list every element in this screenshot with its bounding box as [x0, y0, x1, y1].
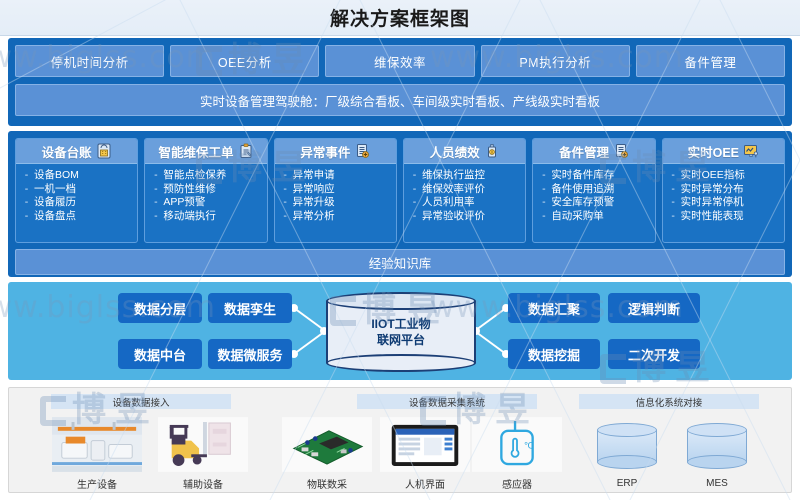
- list-item: -设备盘点: [22, 210, 133, 224]
- item-label: 实时异常分布: [681, 183, 744, 197]
- source-auxiliary-equipment[interactable]: 辅助设备: [157, 416, 249, 491]
- circuit-board-icon: [281, 416, 373, 472]
- source-caption: ERP: [581, 478, 673, 489]
- analytics-tab-row: 停机时间分析 OEE分析 维保效率 PM执行分析 备件管理: [15, 45, 785, 77]
- factory-photo-icon: [51, 416, 143, 472]
- bullet-dash: -: [281, 183, 290, 197]
- card-header: 实时OEE: [663, 139, 784, 164]
- bullet-dash: -: [281, 196, 290, 210]
- card-item-list: -智能点检保养 -预防性维修 -APP预警 -移动端执行: [145, 164, 266, 226]
- bullet-dash: -: [669, 169, 678, 183]
- bullet-dash: -: [410, 196, 419, 210]
- cylinder-shape: [687, 423, 747, 469]
- source-caption: 生产设备: [51, 476, 143, 491]
- bullet-dash: -: [281, 210, 290, 224]
- document-alert-icon: [354, 143, 370, 159]
- list-item: -自动采购单: [539, 210, 650, 224]
- source-sensor[interactable]: ℃ 感应器: [471, 416, 563, 491]
- pill-data-aggregation[interactable]: 数据汇聚: [508, 293, 600, 323]
- card-title: 设备台账: [42, 142, 92, 161]
- list-item: -异常升级: [281, 196, 392, 210]
- list-item: -安全库存预警: [539, 196, 650, 210]
- card-title: 实时OEE: [688, 142, 739, 161]
- list-item: -设备BOM: [22, 169, 133, 183]
- platform-line-2: 联网平台: [377, 332, 425, 348]
- list-item: -异常分析: [281, 210, 392, 224]
- list-item: -预防性维修: [151, 183, 262, 197]
- item-label: 自动采购单: [551, 210, 604, 224]
- group-title-acquisition-system: 设备数据采集系统: [357, 394, 537, 409]
- pill-secondary-development[interactable]: 二次开发: [608, 339, 700, 369]
- pill-data-layering[interactable]: 数据分层: [118, 293, 202, 323]
- cylinder-bottom: [687, 455, 747, 469]
- cabinet-icon: [96, 143, 112, 159]
- bullet-dash: -: [151, 183, 160, 197]
- card-item-list: -维保执行监控 -维保效率评价 -人员利用率 -异常验收评价: [404, 164, 525, 226]
- item-label: 移动端执行: [163, 210, 216, 224]
- card-title: 备件管理: [559, 142, 609, 161]
- tab-downtime-analysis[interactable]: 停机时间分析: [15, 45, 164, 77]
- item-label: 异常验收评价: [422, 210, 485, 224]
- bullet-dash: -: [22, 169, 31, 183]
- tab-maintenance-efficiency[interactable]: 维保效率: [325, 45, 474, 77]
- module-card-row: 设备台账 -设备BOM -一机一档 -设备履历 -设备盘点 智能维保工单: [15, 138, 785, 243]
- list-item: -备件使用追溯: [539, 183, 650, 197]
- tab-pm-execution-analysis[interactable]: PM执行分析: [481, 45, 630, 77]
- cylinder-shape: [597, 423, 657, 469]
- item-label: 实时性能表现: [681, 210, 744, 224]
- list-item: -人员利用率: [410, 196, 521, 210]
- iiot-platform-cylinder[interactable]: IIOT工业物 联网平台: [326, 292, 476, 372]
- source-caption: 人机界面: [379, 476, 471, 491]
- bullet-dash: -: [22, 196, 31, 210]
- bullet-dash: -: [669, 210, 678, 224]
- pill-data-midplatform[interactable]: 数据中台: [118, 339, 202, 369]
- list-item: -实时性能表现: [669, 210, 780, 224]
- list-item: -移动端执行: [151, 210, 262, 224]
- source-caption: 辅助设备: [157, 476, 249, 491]
- list-item: -异常响应: [281, 183, 392, 197]
- card-item-list: -异常申请 -异常响应 -异常升级 -异常分析: [275, 164, 396, 226]
- module-card-realtime-oee[interactable]: 实时OEE -实时OEE指标 -实时异常分布 -实时异常停机 -实时性能表现: [662, 138, 785, 243]
- module-card-equipment-ledger[interactable]: 设备台账 -设备BOM -一机一档 -设备履历 -设备盘点: [15, 138, 138, 243]
- card-header: 备件管理: [533, 139, 654, 164]
- cylinder-top: [597, 423, 657, 437]
- oil-can-icon: [484, 143, 500, 159]
- source-mes[interactable]: MES: [671, 418, 763, 489]
- database-cylinder-icon: [671, 418, 763, 474]
- card-title: 人员绩效: [430, 142, 480, 161]
- list-item: -实时异常分布: [669, 183, 780, 197]
- data-source-layer: 设备数据接入 设备数据采集系统 信息化系统对接 生产设: [8, 387, 792, 493]
- card-header: 设备台账: [16, 139, 137, 164]
- card-item-list: -实时备件库存 -备件使用追溯 -安全库存预警 -自动采购单: [533, 164, 654, 226]
- cockpit-banner[interactable]: 实时设备管理驾驶舱：厂级综合看板、车间级实时看板、产线级实时看板: [15, 84, 785, 116]
- module-card-abnormal-events[interactable]: 异常事件 -异常申请 -异常响应 -异常升级 -异常分析: [274, 138, 397, 243]
- bullet-dash: -: [151, 196, 160, 210]
- bullet-dash: -: [22, 183, 31, 197]
- bullet-dash: -: [410, 183, 419, 197]
- item-label: 实时异常停机: [681, 196, 744, 210]
- item-label: 维保效率评价: [422, 183, 485, 197]
- cylinder-top: [687, 423, 747, 437]
- list-item: -实时异常停机: [669, 196, 780, 210]
- data-platform-layer: 数据分层 数据孪生 数据中台 数据微服务 IIOT工业物 联网平台 数据汇聚 数…: [8, 282, 792, 380]
- item-label: 维保执行监控: [422, 169, 485, 183]
- bullet-dash: -: [410, 210, 419, 224]
- sensor-icon: ℃: [471, 416, 563, 472]
- source-production-equipment[interactable]: 生产设备: [51, 416, 143, 491]
- bullet-dash: -: [410, 169, 419, 183]
- analytics-layer: 停机时间分析 OEE分析 维保效率 PM执行分析 备件管理 实时设备管理驾驶舱：…: [8, 38, 792, 126]
- bullet-dash: -: [151, 169, 160, 183]
- item-label: 实时备件库存: [551, 169, 614, 183]
- source-erp[interactable]: ERP: [581, 418, 673, 489]
- bullet-dash: -: [281, 169, 290, 183]
- card-header: 异常事件: [275, 139, 396, 164]
- source-caption: 物联数采: [281, 476, 373, 491]
- page-title-band: 解决方案框架图: [0, 0, 800, 36]
- pill-data-mining[interactable]: 数据挖掘: [508, 339, 600, 369]
- source-iot-acquisition[interactable]: 物联数采: [281, 416, 373, 491]
- platform-line-1: IIOT工业物: [371, 316, 430, 332]
- bullet-dash: -: [669, 196, 678, 210]
- source-caption: MES: [671, 478, 763, 489]
- monitor-chart-icon: [743, 143, 759, 159]
- bullet-dash: -: [539, 196, 548, 210]
- item-label: 预防性维修: [163, 183, 216, 197]
- module-card-spare-parts[interactable]: 备件管理 -实时备件库存 -备件使用追溯 -安全库存预警 -自动采购单: [532, 138, 655, 243]
- card-item-list: -设备BOM -一机一档 -设备履历 -设备盘点: [16, 164, 137, 226]
- card-header: 人员绩效: [404, 139, 525, 164]
- clipboard-icon: [238, 143, 254, 159]
- list-item: -异常验收评价: [410, 210, 521, 224]
- item-label: 设备BOM: [34, 169, 79, 183]
- module-card-staff-performance[interactable]: 人员绩效 -维保执行监控 -维保效率评价 -人员利用率 -异常验收评价: [403, 138, 526, 243]
- parts-list-icon: [613, 143, 629, 159]
- svg-text:℃: ℃: [524, 441, 534, 451]
- item-label: 智能点检保养: [163, 169, 226, 183]
- group-title-it-integration: 信息化系统对接: [579, 394, 759, 409]
- pill-data-microservice[interactable]: 数据微服务: [208, 339, 292, 369]
- item-label: 设备履历: [34, 196, 76, 210]
- list-item: -实时OEE指标: [669, 169, 780, 183]
- list-item: -异常申请: [281, 169, 392, 183]
- list-item: -维保效率评价: [410, 183, 521, 197]
- bullet-dash: -: [669, 183, 678, 197]
- list-item: -APP预警: [151, 196, 262, 210]
- list-item: -设备履历: [22, 196, 133, 210]
- item-label: 一机一档: [34, 183, 76, 197]
- bullet-dash: -: [151, 210, 160, 224]
- bullet-dash: -: [22, 210, 31, 224]
- bullet-dash: -: [539, 210, 548, 224]
- bullet-dash: -: [539, 183, 548, 197]
- item-label: 安全库存预警: [551, 196, 614, 210]
- database-cylinder-icon: [581, 418, 673, 474]
- source-caption: 感应器: [471, 476, 563, 491]
- solution-framework-diagram: 解决方案框架图 停机时间分析 OEE分析 维保效率 PM执行分析 备件管理 实时…: [0, 0, 800, 500]
- item-label: 备件使用追溯: [551, 183, 614, 197]
- pill-logic-judgement[interactable]: 逻辑判断: [608, 293, 700, 323]
- cylinder-label: IIOT工业物 联网平台: [326, 292, 476, 372]
- item-label: 异常响应: [293, 183, 335, 197]
- list-item: -实时备件库存: [539, 169, 650, 183]
- list-item: -一机一档: [22, 183, 133, 197]
- item-label: 实时OEE指标: [681, 169, 745, 183]
- page-title: 解决方案框架图: [330, 4, 470, 31]
- item-label: 人员利用率: [422, 196, 475, 210]
- pill-digital-twin[interactable]: 数据孪生: [208, 293, 292, 323]
- list-item: -智能点检保养: [151, 169, 262, 183]
- card-header: 智能维保工单: [145, 139, 266, 164]
- card-title: 异常事件: [300, 142, 350, 161]
- tab-spare-parts-management[interactable]: 备件管理: [636, 45, 785, 77]
- card-title: 智能维保工单: [158, 142, 233, 161]
- item-label: 异常分析: [293, 210, 335, 224]
- card-item-list: -实时OEE指标 -实时异常分布 -实时异常停机 -实时性能表现: [663, 164, 784, 226]
- cylinder-bottom: [597, 455, 657, 469]
- forklift-icon: [157, 416, 249, 472]
- knowledge-base-banner[interactable]: 经验知识库: [15, 249, 785, 275]
- source-hmi[interactable]: 人机界面: [379, 416, 471, 491]
- item-label: 异常申请: [293, 169, 335, 183]
- item-label: 设备盘点: [34, 210, 76, 224]
- list-item: -维保执行监控: [410, 169, 521, 183]
- tab-oee-analysis[interactable]: OEE分析: [170, 45, 319, 77]
- item-label: 异常升级: [293, 196, 335, 210]
- bullet-dash: -: [539, 169, 548, 183]
- hmi-tablet-icon: [379, 416, 471, 472]
- group-title-equipment-access: 设备数据接入: [51, 394, 231, 409]
- item-label: APP预警: [163, 196, 205, 210]
- data-platform-canvas: 数据分层 数据孪生 数据中台 数据微服务 IIOT工业物 联网平台 数据汇聚 数…: [8, 282, 792, 380]
- module-card-smart-work-order[interactable]: 智能维保工单 -智能点检保养 -预防性维修 -APP预警 -移动端执行: [144, 138, 267, 243]
- modules-layer: 设备台账 -设备BOM -一机一档 -设备履历 -设备盘点 智能维保工单: [8, 131, 792, 277]
